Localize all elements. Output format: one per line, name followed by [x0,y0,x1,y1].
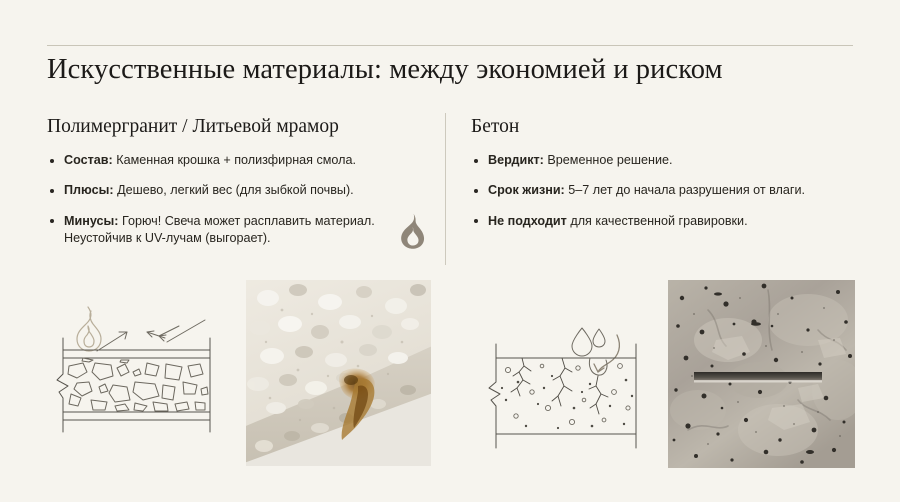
bullet-lead: Вердикт: [488,153,544,167]
column-divider [445,113,446,265]
bullet-lead: Не подходит [488,214,567,228]
concrete-surface-photo [668,280,855,468]
bullet-dot-icon [50,159,54,163]
polymer-slab-cross-section-diagram [55,290,240,465]
slide-root: Искусственные материалы: между экономией… [0,0,900,502]
bullet-lead: Состав: [64,153,113,167]
bullet-lead: Срок жизни: [488,183,565,197]
bullet-lead: Плюсы: [64,183,114,197]
bullet-lead: Минусы: [64,214,118,228]
bullet-dot-icon [50,219,54,223]
bullet-list-polymer-granite: Состав: Каменная крошка + полизфирная см… [47,152,427,248]
list-item: Минусы: Горюч! Свеча может расплавить ма… [47,213,394,248]
page-title: Искусственные материалы: между экономией… [47,54,857,86]
column-title-polymer-granite: Полимергранит / Литьевой мрамор [47,116,427,138]
flame-outline-icon [77,307,101,351]
header-divider [47,45,853,46]
bullet-text: Временное решение. [544,153,673,167]
bullet-text: Дешево, легкий вес (для зыбкой почвы). [114,183,354,197]
water-drop-icon [572,328,605,356]
uv-ray-arrows [97,320,205,351]
bullet-text: для качественной гравировки. [567,214,748,228]
list-item: Вердикт: Временное решение. [471,152,859,169]
bullet-list-concrete: Вердикт: Временное решение. Срок жизни: … [471,152,859,230]
bullet-text: 5–7 лет до начала разрушения от влаги. [565,183,805,197]
concrete-slab-cross-section-diagram [486,296,651,459]
bullet-text: Каменная крошка + полизфирная смола. [113,153,356,167]
bullet-dot-icon [474,159,478,163]
bullet-dot-icon [50,189,54,193]
list-item: Плюсы: Дешево, легкий вес (для зыбкой по… [47,182,427,199]
bullet-dot-icon [474,219,478,223]
flame-icon [399,213,426,249]
list-item: Срок жизни: 5–7 лет до начала разрушения… [471,182,828,199]
polymer-granite-slab-photo [246,280,431,466]
column-polymer-granite: Полимергранит / Литьевой мрамор Состав: … [47,116,427,248]
cracks [511,358,608,414]
bullet-dot-icon [474,189,478,193]
list-item: Не подходит для качественной гравировки. [471,213,859,230]
column-title-concrete: Бетон [471,116,859,138]
list-item: Состав: Каменная крошка + полизфирная см… [47,152,427,169]
column-concrete: Бетон Вердикт: Временное решение. Срок ж… [471,116,859,230]
stone-chips [68,358,208,411]
engraved-slot [694,372,822,383]
